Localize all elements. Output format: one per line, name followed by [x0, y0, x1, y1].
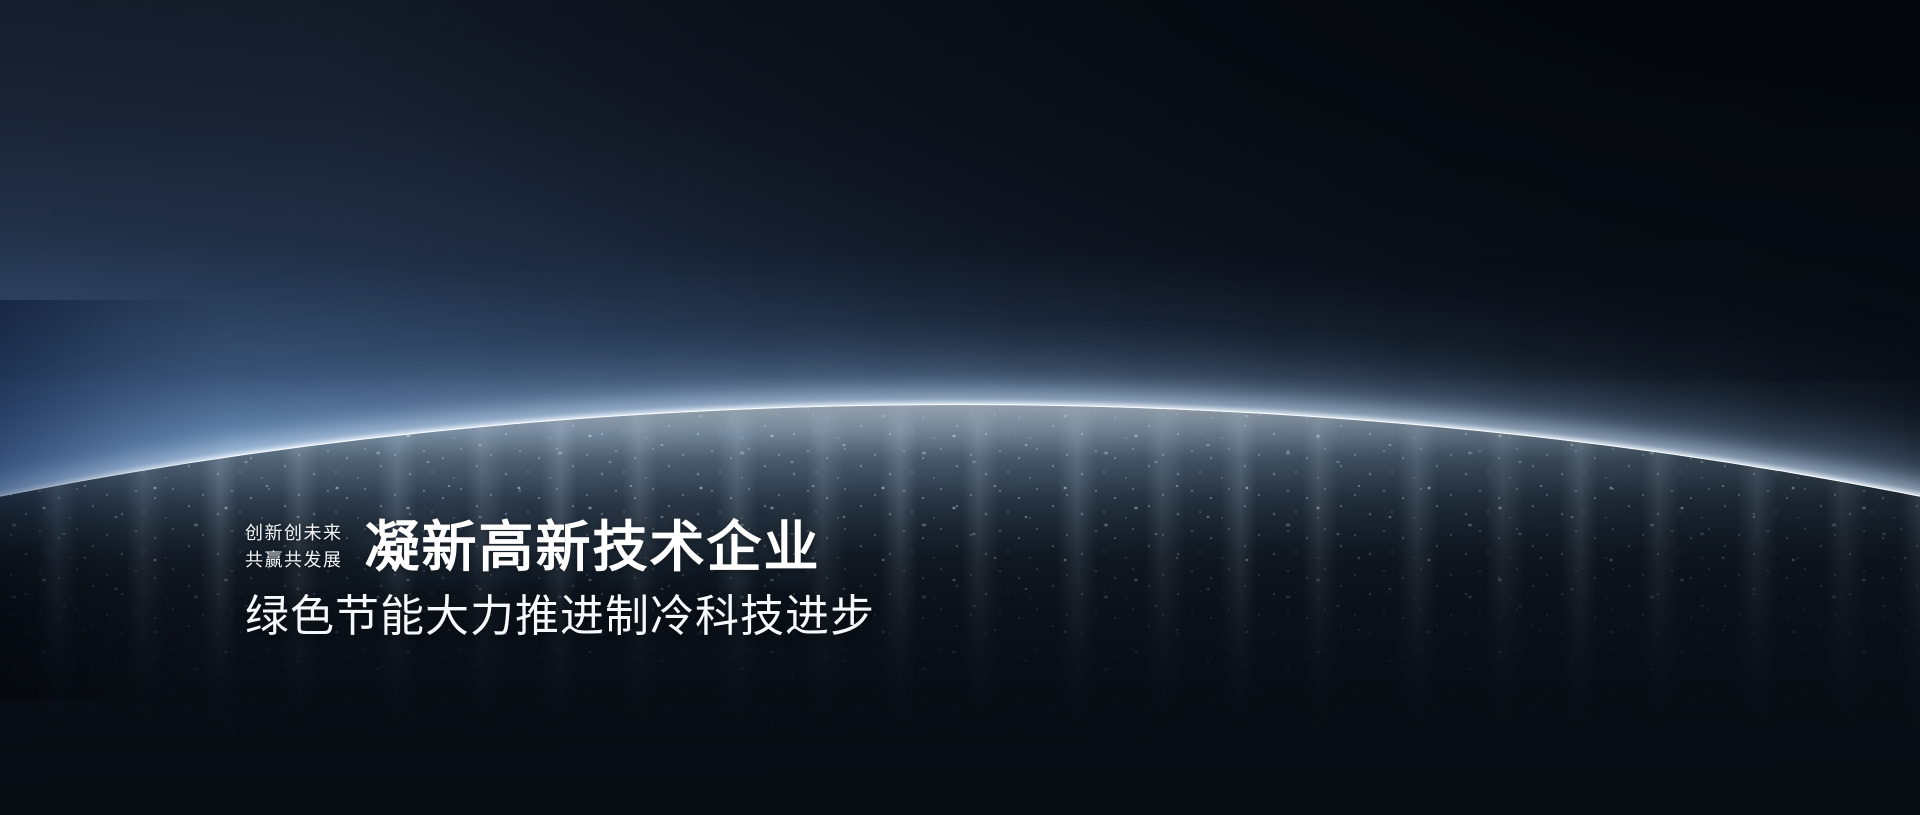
banner-headline: 凝新高新技术企业	[365, 520, 821, 575]
slogan-line-2: 共赢共发展	[245, 551, 343, 569]
slogan-block: 创新创未来 共赢共发展	[245, 524, 343, 572]
banner-subline: 绿色节能大力推进制冷科技进步	[245, 595, 1145, 639]
slogan-line-1: 创新创未来	[245, 524, 343, 542]
banner-copy: 创新创未来 共赢共发展 凝新高新技术企业 绿色节能大力推进制冷科技进步	[245, 520, 1145, 639]
banner-copy-top: 创新创未来 共赢共发展 凝新高新技术企业	[245, 520, 1145, 575]
hero-banner: 创新创未来 共赢共发展 凝新高新技术企业 绿色节能大力推进制冷科技进步	[0, 0, 1920, 815]
